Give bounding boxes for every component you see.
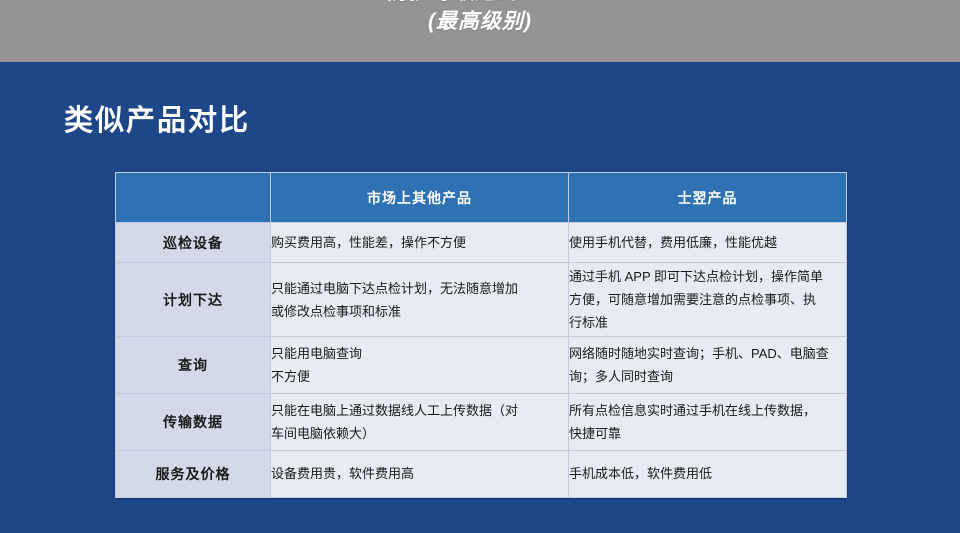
row-label-inspection-device: 巡检设备 (116, 223, 271, 263)
cell-line: 询；多人同时查询 (569, 365, 846, 388)
cell-other-service-price: 设备费用贵，软件费用高 (271, 451, 569, 498)
cell-line: 设备费用贵，软件费用高 (271, 464, 568, 484)
row-label-plan-dispatch: 计划下达 (116, 263, 271, 337)
table-row: 计划下达 只能通过电脑下达点检计划，无法随意增加 或修改点检事项和标准 通过手机… (116, 263, 847, 337)
table-row: 巡检设备 购买费用高，性能差，操作不方便 使用手机代替，费用低廉，性能优越 (116, 223, 847, 263)
table-row: 服务及价格 设备费用贵，软件费用高 手机成本低，软件费用低 (116, 451, 847, 498)
table-body: 巡检设备 购买费用高，性能差，操作不方便 使用手机代替，费用低廉，性能优越 计划… (116, 223, 847, 498)
cell-line: 手机成本低，软件费用低 (569, 464, 846, 484)
cell-line: 快捷可靠 (569, 422, 846, 445)
table-row: 查询 只能用电脑查询 不方便 网络随时随地实时查询；手机、PAD、电脑查 询；多… (116, 337, 847, 394)
comparison-table-wrapper: 市场上其他产品 士翌产品 巡检设备 购买费用高，性能差，操作不方便 使用手机代替… (115, 172, 846, 498)
cell-line: 只能通过电脑下达点检计划，无法随意增加 (271, 277, 568, 300)
top-band-line-1: 防护等级达到IP68 (0, 0, 960, 7)
comparison-table: 市场上其他产品 士翌产品 巡检设备 购买费用高，性能差，操作不方便 使用手机代替… (115, 172, 847, 498)
cell-line: 购买费用高，性能差，操作不方便 (271, 233, 568, 253)
cell-ours-service-price: 手机成本低，软件费用低 (569, 451, 847, 498)
cell-ours-query: 网络随时随地实时查询；手机、PAD、电脑查 询；多人同时查询 (569, 337, 847, 394)
cell-line: 网络随时随地实时查询；手机、PAD、电脑查 (569, 342, 846, 365)
top-band-caption: 防护等级达到IP68 (最高级别) (0, 0, 960, 36)
cell-ours-inspection-device: 使用手机代替，费用低廉，性能优越 (569, 223, 847, 263)
table-header: 市场上其他产品 士翌产品 (116, 173, 847, 223)
cell-line: 只能在电脑上通过数据线人工上传数据（对 (271, 399, 568, 422)
cell-ours-data-transfer: 所有点检信息实时通过手机在线上传数据， 快捷可靠 (569, 394, 847, 451)
cell-line: 所有点检信息实时通过手机在线上传数据， (569, 399, 846, 422)
cell-line: 不方便 (271, 365, 568, 388)
row-label-service-price: 服务及价格 (116, 451, 271, 498)
cell-line: 或修改点检事项和标准 (271, 300, 568, 323)
row-label-query: 查询 (116, 337, 271, 394)
table-row: 传输数据 只能在电脑上通过数据线人工上传数据（对 车间电脑依赖大） 所有点检信息… (116, 394, 847, 451)
top-band-line-2: (最高级别) (0, 7, 960, 36)
table-header-other-products: 市场上其他产品 (271, 173, 569, 223)
cell-other-query: 只能用电脑查询 不方便 (271, 337, 569, 394)
row-label-data-transfer: 传输数据 (116, 394, 271, 451)
table-header-our-product: 士翌产品 (569, 173, 847, 223)
cell-line: 只能用电脑查询 (271, 342, 568, 365)
cell-line: 行标准 (569, 311, 846, 334)
page-title: 类似产品对比 (64, 101, 250, 141)
cell-line: 使用手机代替，费用低廉，性能优越 (569, 233, 846, 253)
cell-other-plan-dispatch: 只能通过电脑下达点检计划，无法随意增加 或修改点检事项和标准 (271, 263, 569, 337)
cell-line: 车间电脑依赖大） (271, 422, 568, 445)
cell-line: 方便，可随意增加需要注意的点检事项、执 (569, 288, 846, 311)
cell-other-data-transfer: 只能在电脑上通过数据线人工上传数据（对 车间电脑依赖大） (271, 394, 569, 451)
cell-line: 通过手机 APP 即可下达点检计划，操作简单 (569, 265, 846, 288)
top-gray-band: 防护等级达到IP68 (最高级别) (0, 0, 960, 62)
table-header-row: 市场上其他产品 士翌产品 (116, 173, 847, 223)
table-header-corner (116, 173, 271, 223)
cell-ours-plan-dispatch: 通过手机 APP 即可下达点检计划，操作简单 方便，可随意增加需要注意的点检事项… (569, 263, 847, 337)
slide-page: 防护等级达到IP68 (最高级别) 类似产品对比 市场上其他产品 士翌产品 (0, 0, 960, 533)
cell-other-inspection-device: 购买费用高，性能差，操作不方便 (271, 223, 569, 263)
